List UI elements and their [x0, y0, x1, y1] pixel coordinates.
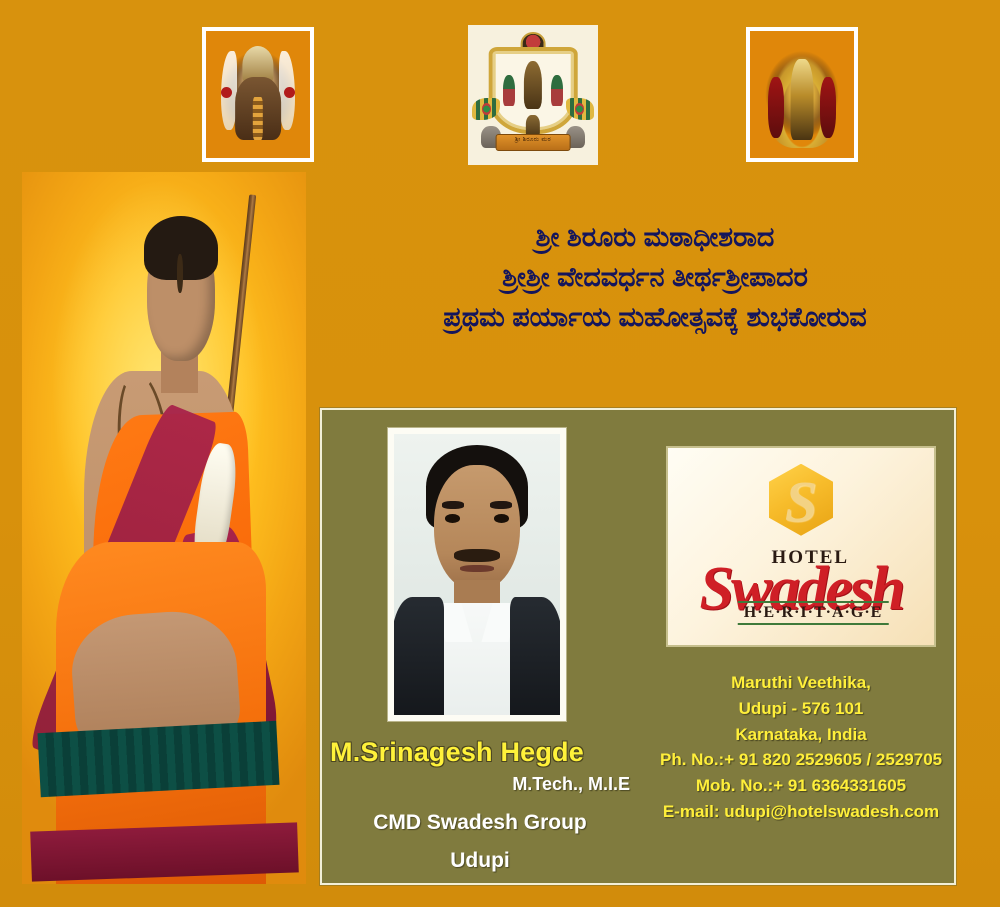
hotel-contact-block: Maruthi Veethika, Udupi - 576 101 Karnat… [660, 670, 942, 825]
sponsor-portrait [394, 434, 560, 715]
portrait-eye-left [445, 514, 460, 522]
deity-image-right [746, 27, 858, 162]
deity-left-art [206, 31, 310, 158]
portrait-eyebrow-left [442, 501, 464, 508]
sponsor-qualification: M.Tech., M.I.E [330, 774, 630, 795]
portrait-suit-right [510, 597, 560, 715]
deity-image-left [202, 27, 314, 162]
portrait-eyebrow-right [490, 501, 512, 508]
matha-crest: ಶ್ರೀ ಶಿರೂರು ಮಠ [468, 25, 598, 165]
swamiji-robe-hem [30, 822, 299, 881]
headline-block: ಶ್ರೀ ಶಿರೂರು ಮಠಾಧೀಶರಾದ ಶ್ರೀಶ್ರೀ ವೇದವರ್ಧನ … [325, 218, 985, 338]
portrait-suit-left [394, 597, 444, 715]
crest-ribbon-text: ಶ್ರೀ ಶಿರೂರು ಮಠ [496, 134, 571, 151]
crest-disc-left [482, 103, 491, 114]
portrait-mouth [460, 565, 493, 572]
sponsor-name-block: M.Srinagesh Hegde M.Tech., M.I.E CMD Swa… [330, 737, 630, 873]
sponsor-organisation: CMD Swadesh Group [330, 811, 630, 835]
sponsor-portrait-frame [388, 428, 566, 721]
deity-left-garland [253, 97, 263, 140]
headline-line-2: ಶ್ರೀಶ್ರೀ ವೇದವರ್ಧನ ತೀರ್ಥಶ್ರೀಪಾದರ [325, 258, 985, 298]
crest-disc-right [575, 103, 584, 114]
crest-attendant-left [503, 75, 515, 106]
portrait-moustache [454, 549, 500, 562]
deity-right-side-left [768, 77, 785, 138]
contact-email: E-mail: udupi@hotelswadesh.com [660, 799, 942, 825]
sponsor-city: Udupi [330, 849, 630, 873]
deity-right-figure [791, 59, 814, 140]
logo-monogram: S [784, 476, 818, 532]
hotel-swadesh-logo: S HOTEL Swadesh H·E·R·I·T·A·G·E [668, 448, 934, 645]
portrait-face [434, 465, 520, 591]
headline-line-1: ಶ್ರೀ ಶಿರೂರು ಮಠಾಧೀಶರಾದ [325, 218, 985, 258]
crest-central-deity [524, 61, 542, 109]
contact-address-line-2: Udupi - 576 101 [660, 696, 942, 722]
contact-address-line-1: Maruthi Veethika, [660, 670, 942, 696]
swamiji-green-border-band [38, 721, 280, 797]
crest-attendant-right [551, 75, 563, 106]
deity-right-side-right [820, 77, 837, 138]
matha-crest-art: ಶ್ರೀ ಶಿರೂರು ಮಠ [468, 25, 598, 165]
logo-tagline: H·E·R·I·T·A·G·E [738, 601, 889, 625]
deity-right-art [750, 31, 854, 158]
poster-canvas: ಶ್ರೀ ಶಿರೂರು ಮಠ ಶ್ರೀ ಶಿರೂರು ಮಠಾಧೀಶರಾದ [0, 0, 1000, 907]
portrait-eye-right [494, 514, 509, 522]
contact-mobile: Mob. No.:+ 91 6364331605 [660, 773, 942, 799]
contact-address-line-3: Karnataka, India [660, 722, 942, 748]
contact-phone: Ph. No.:+ 91 820 2529605 / 2529705 [660, 747, 942, 773]
sponsor-name: M.Srinagesh Hegde [330, 737, 630, 768]
swamiji-photo [22, 172, 306, 884]
swamiji-tilak [177, 254, 183, 293]
headline-line-3: ಪ್ರಥಮ ಪರ್ಯಾಯ ಮಹೋತ್ಸವಕ್ಕೆ ಶುಭಕೋರುವ [325, 298, 985, 338]
